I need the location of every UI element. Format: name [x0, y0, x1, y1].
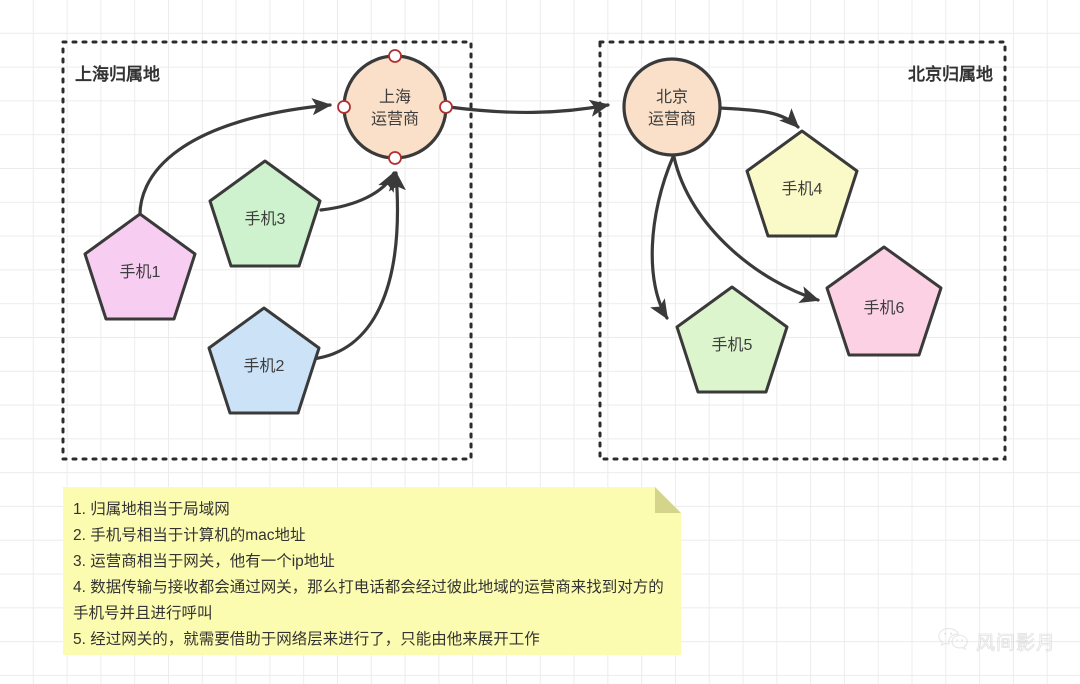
node-phone4[interactable]: 手机4	[747, 131, 857, 236]
shanghai-operator-port-west[interactable]	[338, 101, 350, 113]
node-phone1[interactable]: 手机1	[85, 214, 195, 319]
diagram-canvas: 上海归属地 北京归属地 手机1 手机2 手	[0, 0, 1080, 684]
watermark: 风间影月	[938, 627, 1056, 656]
beijing-operator-circle	[624, 59, 720, 155]
phone4-label: 手机4	[782, 180, 823, 198]
shanghai-operator-port-south[interactable]	[389, 152, 401, 164]
phone1-label: 手机1	[120, 263, 161, 281]
node-beijing-operator[interactable]: 北京 运营商	[624, 59, 720, 155]
region-label-beijing: 北京归属地	[908, 64, 993, 84]
beijing-operator-label-line2: 运营商	[648, 110, 696, 128]
shanghai-operator-label-line1: 上海	[379, 88, 411, 106]
node-shanghai-operator[interactable]: 上海 运营商	[338, 50, 452, 164]
phone2-label: 手机2	[244, 357, 285, 375]
shanghai-operator-label-line2: 运营商	[371, 110, 419, 128]
node-phone3[interactable]: 手机3	[210, 161, 320, 266]
node-phone2[interactable]: 手机2	[209, 308, 319, 413]
edge-phone3-to-shanghai-operator	[321, 173, 394, 210]
wechat-icon	[938, 627, 968, 656]
node-phone6[interactable]: 手机6	[827, 247, 941, 355]
phone6-label: 手机6	[864, 299, 905, 317]
note-text-content: 1. 归属地相当于局域网 2. 手机号相当于计算机的mac地址 3. 运营商相当…	[73, 497, 673, 653]
region-label-shanghai: 上海归属地	[75, 64, 160, 84]
node-phone5[interactable]: 手机5	[677, 287, 787, 392]
edge-beijing-operator-to-phone4	[719, 108, 798, 127]
shanghai-operator-circle	[344, 56, 446, 158]
edge-shanghai-to-beijing-operator	[449, 105, 608, 112]
watermark-text: 风间影月	[976, 628, 1056, 655]
edge-beijing-operator-to-phone5	[652, 157, 673, 318]
phone3-label: 手机3	[245, 210, 286, 228]
shanghai-operator-port-north[interactable]	[389, 50, 401, 62]
shanghai-operator-port-east[interactable]	[440, 101, 452, 113]
beijing-operator-label-line1: 北京	[656, 88, 688, 106]
phone5-label: 手机5	[712, 336, 753, 354]
